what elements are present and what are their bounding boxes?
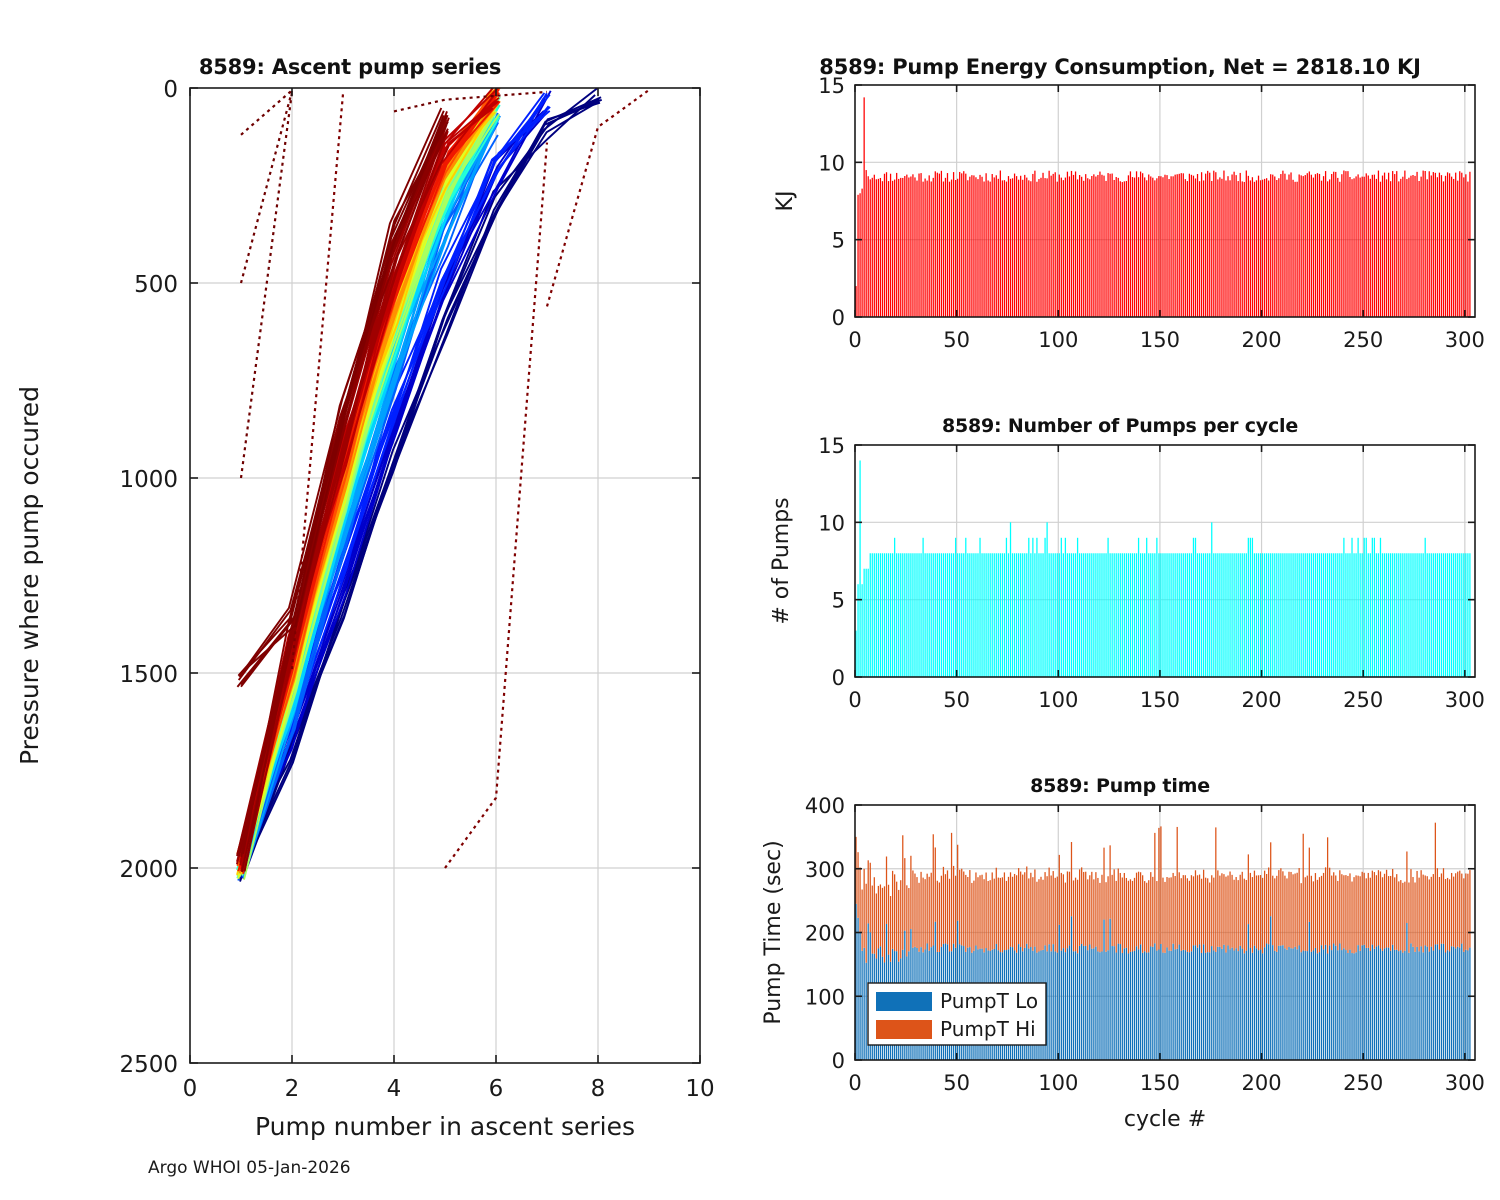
bar bbox=[1357, 538, 1358, 677]
bar-pumpt-lo bbox=[1410, 943, 1411, 1060]
bar-pumpt-hi bbox=[1447, 878, 1448, 950]
bar-pumpt-lo bbox=[1321, 945, 1322, 1060]
bar-pumpt-hi bbox=[935, 847, 936, 921]
bar bbox=[1095, 553, 1096, 677]
bar bbox=[1370, 553, 1371, 677]
bar-pumpt-lo bbox=[1378, 945, 1379, 1060]
bar bbox=[965, 174, 966, 317]
bar bbox=[882, 553, 883, 677]
bar bbox=[1307, 173, 1308, 317]
bar bbox=[1160, 553, 1161, 677]
pump-energy-plot[interactable]: 050100150200250300051015KJ bbox=[740, 55, 1500, 385]
bar-pumpt-hi bbox=[1095, 872, 1096, 947]
bar bbox=[880, 178, 881, 317]
bar-pumpt-lo bbox=[1191, 951, 1192, 1060]
bar-pumpt-hi bbox=[906, 885, 907, 956]
bar-pumpt-hi bbox=[941, 876, 942, 947]
bar bbox=[1069, 176, 1070, 317]
bar-pumpt-hi bbox=[1323, 873, 1324, 949]
bar-pumpt-hi bbox=[1469, 870, 1470, 948]
bar bbox=[1122, 182, 1123, 317]
bar-pumpt-lo bbox=[1160, 944, 1161, 1060]
bar bbox=[1055, 553, 1056, 677]
pumps-per-cycle-title: 8589: Number of Pumps per cycle bbox=[750, 415, 1490, 437]
bar-pumpt-hi bbox=[1103, 848, 1104, 920]
bar-pumpt-hi bbox=[1278, 870, 1279, 946]
bar bbox=[1120, 553, 1121, 677]
bar bbox=[1402, 177, 1403, 317]
bar-pumpt-hi bbox=[1233, 880, 1234, 951]
bar-pumpt-hi bbox=[994, 879, 995, 949]
bar-pumpt-lo bbox=[1351, 953, 1352, 1060]
bar bbox=[1075, 553, 1076, 677]
bar-pumpt-lo bbox=[1114, 946, 1115, 1060]
bar bbox=[1187, 553, 1188, 677]
bar-pumpt-lo bbox=[1299, 946, 1300, 1061]
bar bbox=[1140, 172, 1141, 317]
bar-pumpt-lo bbox=[1319, 952, 1320, 1060]
pumps-per-cycle-plot[interactable]: 050100150200250300051015# of Pumps bbox=[740, 415, 1500, 745]
bar bbox=[1441, 175, 1442, 317]
bar bbox=[910, 177, 911, 318]
bar bbox=[1347, 171, 1348, 317]
bar bbox=[1207, 171, 1208, 317]
bar bbox=[888, 181, 889, 317]
bar-pumpt-lo bbox=[1207, 952, 1208, 1060]
svg-text:150: 150 bbox=[1140, 688, 1180, 712]
bar bbox=[1449, 553, 1450, 677]
bar bbox=[1138, 177, 1139, 317]
bar bbox=[1191, 553, 1192, 677]
bar bbox=[1130, 553, 1131, 677]
bar bbox=[1321, 553, 1322, 677]
bar bbox=[947, 173, 948, 317]
bar bbox=[1010, 179, 1011, 317]
bar bbox=[1179, 174, 1180, 317]
bar bbox=[1427, 179, 1428, 317]
bar bbox=[1433, 172, 1434, 317]
bar-pumpt-lo bbox=[1144, 951, 1145, 1060]
bar-pumpt-lo bbox=[1353, 953, 1354, 1060]
bar-pumpt-lo bbox=[1195, 945, 1196, 1060]
svg-text:250: 250 bbox=[1343, 688, 1383, 712]
bar-pumpt-lo bbox=[1083, 946, 1084, 1060]
bar bbox=[1030, 553, 1031, 677]
bar bbox=[1038, 553, 1039, 677]
bar-pumpt-hi bbox=[967, 877, 968, 948]
bar bbox=[1209, 173, 1210, 317]
bar bbox=[1128, 175, 1129, 317]
bar bbox=[1087, 178, 1088, 317]
bar-pumpt-lo bbox=[1105, 952, 1106, 1060]
bar-pumpt-hi bbox=[1260, 875, 1261, 950]
bar-pumpt-hi bbox=[1209, 883, 1210, 953]
bar bbox=[988, 553, 989, 677]
bar-pumpt-hi bbox=[1132, 881, 1133, 952]
bar bbox=[1248, 176, 1249, 317]
bar-pumpt-lo bbox=[1219, 947, 1220, 1060]
bar-pumpt-lo bbox=[1400, 950, 1401, 1060]
bar-pumpt-hi bbox=[1018, 868, 1019, 944]
bar-pumpt-hi bbox=[985, 873, 986, 949]
bar bbox=[1160, 176, 1161, 317]
bar bbox=[1250, 180, 1251, 317]
bar-pumpt-hi bbox=[1388, 876, 1389, 948]
bar bbox=[1355, 176, 1356, 317]
bar bbox=[969, 177, 970, 317]
bar-pumpt-hi bbox=[1317, 880, 1318, 953]
bar-pumpt-lo bbox=[1256, 948, 1257, 1060]
bar bbox=[1116, 553, 1117, 677]
bar bbox=[931, 181, 932, 317]
bar-pumpt-hi bbox=[1355, 875, 1356, 952]
bar bbox=[868, 176, 869, 317]
svg-text:0: 0 bbox=[163, 77, 178, 103]
bar-pumpt-lo bbox=[1276, 952, 1277, 1060]
bar bbox=[1101, 175, 1102, 317]
bar-pumpt-lo bbox=[1077, 953, 1078, 1060]
ascent-series-plot[interactable]: 024681005001000150020002500Pump number i… bbox=[0, 55, 740, 1145]
bar-pumpt-lo bbox=[1097, 951, 1098, 1060]
bar-pumpt-hi bbox=[1168, 878, 1169, 951]
bar bbox=[1266, 553, 1267, 677]
bar bbox=[1018, 553, 1019, 677]
bar-pumpt-hi bbox=[1335, 875, 1336, 945]
bar bbox=[1124, 553, 1125, 677]
bar-pumpt-hi bbox=[959, 870, 960, 944]
bar bbox=[1089, 179, 1090, 317]
bar bbox=[1124, 181, 1125, 317]
bar-pumpt-lo bbox=[1337, 950, 1338, 1060]
bar-pumpt-lo bbox=[1384, 948, 1385, 1060]
bar-pumpt-lo bbox=[1217, 947, 1218, 1060]
bar-pumpt-lo bbox=[1073, 951, 1074, 1060]
bar bbox=[994, 553, 995, 677]
bar bbox=[1437, 553, 1438, 677]
bar-pumpt-hi bbox=[1408, 882, 1409, 952]
bar bbox=[1260, 180, 1261, 317]
bar-pumpt-lo bbox=[1120, 944, 1121, 1060]
bar bbox=[1126, 553, 1127, 677]
bar-pumpt-hi bbox=[933, 834, 934, 945]
legend-label-pumpt-hi: PumpT Hi bbox=[940, 1017, 1036, 1041]
bar-pumpt-lo bbox=[1233, 951, 1234, 1061]
bar-pumpt-hi bbox=[981, 875, 982, 949]
bar bbox=[1421, 177, 1422, 317]
bar bbox=[1038, 179, 1039, 317]
bar-pumpt-lo bbox=[1146, 953, 1147, 1060]
bar bbox=[1431, 553, 1432, 677]
bar-pumpt-hi bbox=[927, 874, 928, 944]
bar bbox=[1303, 553, 1304, 677]
bar bbox=[884, 174, 885, 317]
bar bbox=[1290, 553, 1291, 677]
bar bbox=[1223, 553, 1224, 677]
bar-pumpt-hi bbox=[1396, 874, 1397, 950]
bar bbox=[1408, 553, 1409, 677]
bar bbox=[1327, 553, 1328, 677]
bar bbox=[1189, 553, 1190, 677]
bar bbox=[935, 553, 936, 677]
bar bbox=[1093, 174, 1094, 317]
bar-pumpt-hi bbox=[1059, 855, 1060, 925]
pump-time-plot[interactable]: 0501001502002503000100200300400Pump Time… bbox=[740, 775, 1500, 1145]
bar bbox=[1049, 553, 1050, 677]
bar-pumpt-hi bbox=[1372, 871, 1373, 945]
bar bbox=[1437, 177, 1438, 317]
bar-pumpt-lo bbox=[864, 948, 865, 1060]
bar-pumpt-lo bbox=[1252, 953, 1253, 1060]
bar bbox=[1089, 553, 1090, 677]
bar-pumpt-hi bbox=[1246, 880, 1247, 951]
bar bbox=[1370, 179, 1371, 317]
bar bbox=[1335, 553, 1336, 677]
bar-pumpt-hi bbox=[955, 876, 956, 948]
bar bbox=[1327, 181, 1328, 317]
bar-pumpt-hi bbox=[1262, 878, 1263, 953]
bar-pumpt-hi bbox=[998, 878, 999, 951]
svg-text:50: 50 bbox=[943, 688, 970, 712]
bar bbox=[1362, 553, 1363, 677]
bar bbox=[947, 553, 948, 677]
bar bbox=[1016, 176, 1017, 317]
bar bbox=[1024, 553, 1025, 677]
bar-pumpt-hi bbox=[1333, 872, 1334, 943]
bar-pumpt-hi bbox=[1185, 875, 1186, 950]
bar bbox=[1187, 181, 1188, 317]
bar-pumpt-hi bbox=[1252, 877, 1253, 953]
bar bbox=[1398, 553, 1399, 677]
bar-pumpt-hi bbox=[1134, 878, 1135, 951]
bar-pumpt-hi bbox=[857, 852, 858, 918]
bar-pumpt-hi bbox=[1364, 873, 1365, 945]
bar bbox=[927, 553, 928, 677]
bar-pumpt-hi bbox=[1087, 879, 1088, 950]
bar bbox=[886, 553, 887, 677]
bar-pumpt-hi bbox=[977, 877, 978, 949]
bar bbox=[1337, 178, 1338, 317]
bar-pumpt-hi bbox=[1427, 876, 1428, 946]
bar bbox=[1353, 178, 1354, 317]
bar-pumpt-lo bbox=[1441, 944, 1442, 1060]
bar-pumpt-lo bbox=[1345, 950, 1346, 1060]
bar-pumpt-hi bbox=[965, 875, 966, 952]
bar bbox=[1158, 176, 1159, 317]
bar-pumpt-hi bbox=[1376, 875, 1377, 946]
bar bbox=[1321, 181, 1322, 317]
bar-pumpt-hi bbox=[1014, 874, 1015, 950]
bar-pumpt-hi bbox=[1297, 873, 1298, 949]
bar bbox=[937, 553, 938, 677]
ascent-series-line bbox=[241, 92, 292, 478]
bar bbox=[977, 553, 978, 677]
bar bbox=[1282, 171, 1283, 317]
bar bbox=[1109, 174, 1110, 317]
bar-pumpt-lo bbox=[1437, 944, 1438, 1060]
bar-pumpt-lo bbox=[1140, 944, 1141, 1060]
bar-pumpt-lo bbox=[1323, 949, 1324, 1060]
bar-pumpt-lo bbox=[1325, 945, 1326, 1060]
bar-pumpt-hi bbox=[1425, 875, 1426, 945]
bar bbox=[898, 553, 899, 677]
bar bbox=[882, 181, 883, 317]
bar-pumpt-lo bbox=[1205, 953, 1206, 1060]
bar bbox=[996, 553, 997, 677]
bar bbox=[1278, 178, 1279, 317]
bar bbox=[1067, 553, 1068, 677]
bar bbox=[933, 553, 934, 677]
bar bbox=[1067, 172, 1068, 317]
bar bbox=[1325, 553, 1326, 677]
bar bbox=[1443, 553, 1444, 677]
bar bbox=[981, 553, 982, 677]
bar bbox=[1236, 175, 1237, 317]
bar bbox=[906, 553, 907, 677]
bar bbox=[910, 553, 911, 677]
bar bbox=[1225, 180, 1226, 317]
bar bbox=[1097, 553, 1098, 677]
bar-pumpt-hi bbox=[1290, 872, 1291, 948]
bar-pumpt-hi bbox=[1406, 851, 1407, 923]
bar bbox=[943, 553, 944, 677]
bar bbox=[1272, 175, 1273, 317]
bar-pumpt-hi bbox=[898, 890, 899, 962]
bar bbox=[1357, 174, 1358, 317]
bar bbox=[1118, 178, 1119, 317]
bar bbox=[1467, 182, 1468, 317]
bar-pumpt-hi bbox=[939, 882, 940, 951]
bar bbox=[983, 553, 984, 677]
bar-pumpt-lo bbox=[1380, 949, 1381, 1060]
bar-pumpt-lo bbox=[1173, 944, 1174, 1060]
bar bbox=[1368, 553, 1369, 677]
bar bbox=[1360, 178, 1361, 317]
svg-text:10: 10 bbox=[685, 1076, 714, 1102]
bar-pumpt-lo bbox=[1227, 945, 1228, 1060]
bar-pumpt-lo bbox=[1087, 950, 1088, 1060]
svg-text:2: 2 bbox=[285, 1076, 300, 1102]
bar-pumpt-lo bbox=[1274, 951, 1275, 1060]
bar-pumpt-lo bbox=[1130, 952, 1131, 1060]
bar bbox=[1398, 181, 1399, 317]
bar-pumpt-hi bbox=[1238, 880, 1239, 951]
bar bbox=[971, 175, 972, 317]
bar-pumpt-lo bbox=[1364, 945, 1365, 1060]
bar-pumpt-hi bbox=[1057, 877, 1058, 953]
bar-pumpt-hi bbox=[1294, 874, 1295, 947]
bar-pumpt-lo bbox=[1254, 946, 1255, 1060]
bar bbox=[1097, 175, 1098, 317]
bar-pumpt-hi bbox=[1439, 877, 1440, 950]
bar bbox=[916, 181, 917, 317]
bar bbox=[1179, 553, 1180, 677]
bar-pumpt-hi bbox=[947, 870, 948, 944]
bar-pumpt-hi bbox=[1065, 883, 1066, 953]
bar bbox=[1213, 553, 1214, 677]
bar bbox=[1382, 553, 1383, 677]
bar-pumpt-lo bbox=[1418, 951, 1419, 1060]
bar-pumpt-hi bbox=[1360, 876, 1361, 951]
bar-pumpt-hi bbox=[929, 877, 930, 951]
bar bbox=[933, 178, 934, 317]
bar bbox=[1022, 180, 1023, 317]
bar-pumpt-hi bbox=[1455, 873, 1456, 948]
bar bbox=[1028, 180, 1029, 317]
bar-pumpt-lo bbox=[1071, 916, 1072, 1060]
bar-pumpt-lo bbox=[1423, 952, 1424, 1060]
bar-pumpt-hi bbox=[896, 882, 897, 952]
bar bbox=[998, 179, 999, 317]
bar-pumpt-hi bbox=[866, 884, 867, 963]
bar bbox=[1032, 174, 1033, 317]
bar-pumpt-hi bbox=[880, 884, 881, 946]
bar-pumpt-lo bbox=[1412, 947, 1413, 1060]
bar-pumpt-hi bbox=[1197, 875, 1198, 947]
bar-pumpt-lo bbox=[1079, 946, 1080, 1060]
bar bbox=[1020, 553, 1021, 677]
bar bbox=[967, 180, 968, 317]
bar bbox=[1244, 553, 1245, 677]
bar-pumpt-lo bbox=[1209, 952, 1210, 1060]
bar-pumpt-hi bbox=[920, 872, 921, 947]
bar bbox=[1142, 173, 1143, 317]
bar bbox=[1388, 553, 1389, 677]
bar bbox=[1055, 172, 1056, 317]
bar bbox=[1404, 553, 1405, 677]
bar bbox=[1020, 176, 1021, 317]
bar bbox=[1248, 538, 1249, 677]
bar-pumpt-hi bbox=[1384, 874, 1385, 949]
bar bbox=[1400, 553, 1401, 677]
bar-pumpt-lo bbox=[1126, 948, 1127, 1060]
bar bbox=[1004, 553, 1005, 677]
bar bbox=[1162, 177, 1163, 317]
bar bbox=[1396, 553, 1397, 677]
bar-pumpt-lo bbox=[1349, 950, 1350, 1060]
bar bbox=[1323, 176, 1324, 317]
bar bbox=[880, 553, 881, 677]
svg-text:10: 10 bbox=[818, 511, 845, 535]
bar bbox=[1284, 174, 1285, 317]
bar-pumpt-lo bbox=[1116, 953, 1117, 1060]
bar-pumpt-lo bbox=[1439, 950, 1440, 1060]
bar bbox=[973, 175, 974, 317]
bar-pumpt-hi bbox=[1126, 878, 1127, 948]
bar-pumpt-lo bbox=[1095, 947, 1096, 1060]
bar-pumpt-hi bbox=[908, 888, 909, 951]
bar bbox=[1091, 553, 1092, 677]
ascent-series-line bbox=[241, 90, 292, 135]
bar bbox=[920, 173, 921, 317]
bar bbox=[1061, 538, 1062, 677]
bar-pumpt-hi bbox=[902, 835, 903, 950]
bar-pumpt-lo bbox=[1063, 948, 1064, 1060]
bar bbox=[1154, 553, 1155, 677]
bar-pumpt-lo bbox=[1175, 949, 1176, 1060]
bar-pumpt-hi bbox=[1020, 872, 1021, 947]
bar bbox=[1341, 553, 1342, 677]
bar bbox=[1134, 178, 1135, 317]
pump-time-legend[interactable]: PumpT LoPumpT Hi bbox=[868, 983, 1046, 1045]
bar bbox=[857, 195, 858, 317]
bar bbox=[1181, 553, 1182, 677]
bar bbox=[1211, 181, 1212, 317]
bar bbox=[925, 553, 926, 677]
bar bbox=[1018, 180, 1019, 317]
bar-pumpt-lo bbox=[1309, 922, 1310, 1060]
bar bbox=[1008, 176, 1009, 317]
bar bbox=[1280, 553, 1281, 677]
